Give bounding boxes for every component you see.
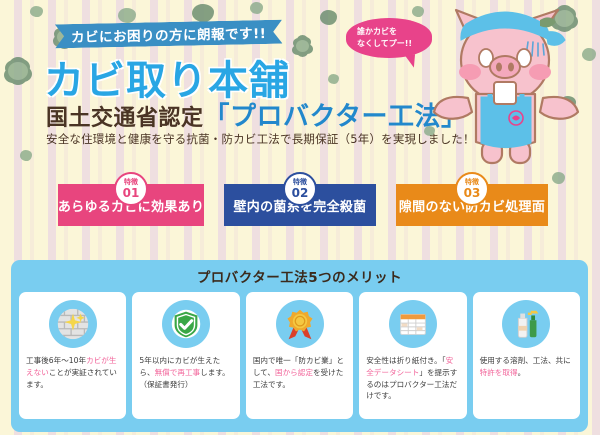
mold-blob-icon	[412, 6, 424, 17]
mold-blob-icon	[118, 8, 136, 23]
merit-card-text: 国内で唯一「防カビ業」として、国から認定を受けた工法です。	[253, 355, 346, 390]
landing-page: カビにお困りの方に朗報です!! カビ取り本舗 国土交通省認定 「プロバクター工法…	[0, 0, 600, 435]
merit-card[interactable]: 国内で唯一「防カビ業」として、国から認定を受けた工法です。	[246, 292, 353, 419]
feature-badge-label-1: 特徴	[124, 179, 138, 186]
merit-card[interactable]: 工事後6年～10年カビが生えないことが実証されています。	[19, 292, 126, 419]
merits-panel: プロバクター工法5つのメリット	[11, 260, 588, 432]
pig-mascot-icon	[432, 2, 582, 168]
feature-box-3[interactable]: 特徴 03 隙間のない防カビ処理面	[396, 184, 548, 226]
certification-subtitle: 国土交通省認定 「プロバクター工法」	[46, 96, 467, 133]
method-name-text: 「プロバクター工法」	[204, 96, 468, 133]
merit-text-part: 使用する溶剤、工法、共に	[480, 356, 571, 365]
merit-card[interactable]: 使用する溶剤、工法、共に特許を取得。	[473, 292, 580, 419]
speech-bubble-line-2: なくしてプー!!	[357, 38, 432, 50]
spray-bottle-icon	[502, 300, 550, 348]
merit-text-highlight: 無償で再工事	[155, 368, 201, 377]
merit-text-part: 安全性は折り紙付き。「	[366, 356, 445, 365]
mold-blob-icon	[320, 10, 337, 25]
feature-badge-label-2: 特徴	[293, 179, 307, 186]
feature-badge-number-3: 03	[464, 187, 481, 199]
certification-authority-text: 国土交通省認定	[46, 100, 204, 132]
brick-wall-icon	[49, 300, 97, 348]
feature-box-1[interactable]: 特徴 01 あらゆるカビに効果あり	[58, 184, 204, 226]
merits-panel-title: プロバクター工法5つのメリット	[11, 260, 588, 292]
merit-text-highlight: 国から認定	[275, 368, 313, 377]
merit-card[interactable]: 5年以内にカビが生えたら、無償で再工事します。（保証書発行）	[132, 292, 239, 419]
feature-badge-2: 特徴 02	[283, 172, 317, 206]
mold-blob-icon	[20, 150, 32, 161]
merit-card-text: 安全性は折り紙付き。「安全データシート」を提示するのはプロバクター工法だけです。	[366, 355, 459, 402]
mold-blob-icon	[8, 62, 28, 80]
speech-bubble-line-1: 誰かカビを	[357, 26, 432, 38]
feature-badge-3: 特徴 03	[455, 172, 489, 206]
feature-badge-number-2: 02	[292, 187, 309, 199]
merit-text-part: 。	[518, 368, 526, 377]
mold-blob-icon	[296, 40, 309, 52]
mold-blob-icon	[192, 4, 214, 22]
feature-boxes: 特徴 01 あらゆるカビに効果あり 特徴 02 壁内の菌糸を完全殺菌 特徴 03…	[0, 172, 600, 234]
hero-tagline: 安全な住環境と健康を守る抗菌・防カビ工法で長期保証（5年）を実現しました！	[46, 131, 475, 147]
announcement-ribbon: カビにお困りの方に朗報です!!	[55, 20, 283, 49]
merit-card-text: 使用する溶剤、工法、共に特許を取得。	[480, 355, 573, 379]
mold-blob-icon	[328, 74, 339, 84]
merit-text-highlight: 特許を取得	[480, 368, 518, 377]
merit-text-part: 工事後6年～10年	[26, 356, 86, 365]
award-ribbon-icon	[276, 300, 324, 348]
merit-card-text: 5年以内にカビが生えたら、無償で再工事します。（保証書発行）	[139, 355, 232, 390]
shield-check-icon	[162, 300, 210, 348]
merit-card-list: 工事後6年～10年カビが生えないことが実証されています。 5年以内にカビが生えた…	[11, 292, 588, 419]
feature-box-2[interactable]: 特徴 02 壁内の菌糸を完全殺菌	[224, 184, 376, 226]
announcement-ribbon-text: カビにお困りの方に朗報です!!	[71, 22, 267, 46]
mold-blob-icon	[30, 6, 43, 17]
mold-blob-icon	[250, 2, 263, 14]
mold-blob-icon	[582, 48, 596, 61]
mascot-speech-bubble: 誰かカビを なくしてプー!!	[346, 18, 432, 58]
feature-badge-label-3: 特徴	[465, 179, 479, 186]
feature-badge-number-1: 01	[123, 187, 140, 199]
merit-card-text: 工事後6年～10年カビが生えないことが実証されています。	[26, 355, 119, 390]
merit-card[interactable]: 安全性は折り紙付き。「安全データシート」を提示するのはプロバクター工法だけです。	[359, 292, 466, 419]
datasheet-icon	[389, 300, 437, 348]
feature-badge-1: 特徴 01	[114, 172, 148, 206]
